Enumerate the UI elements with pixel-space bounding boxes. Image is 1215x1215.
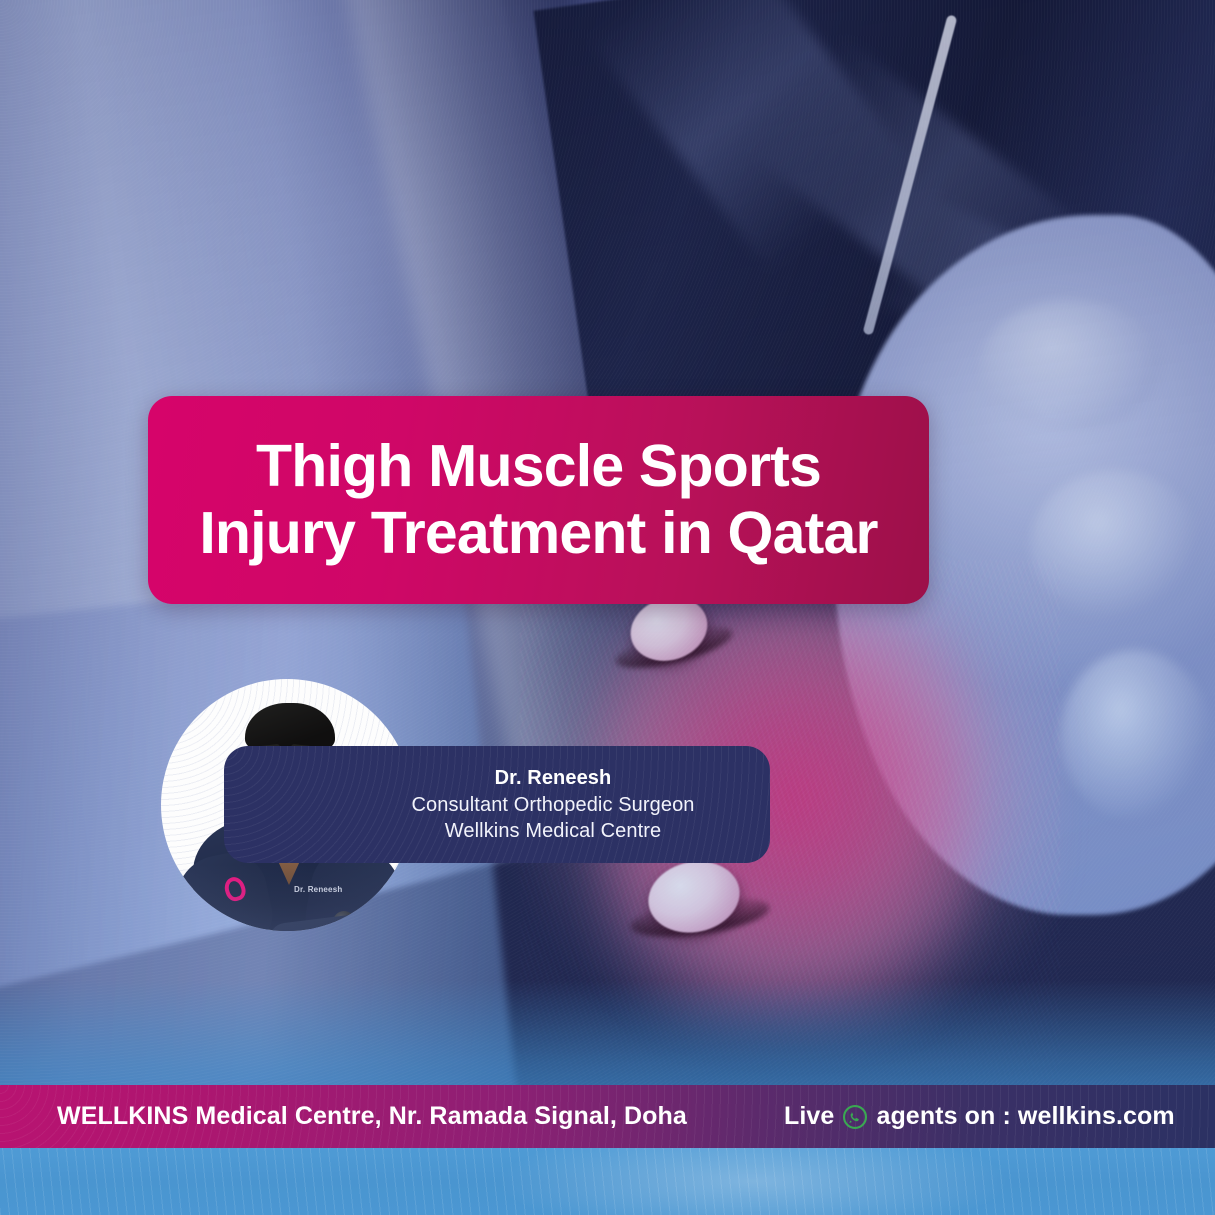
bottom-blue-strip	[0, 1148, 1215, 1215]
headline-line-1: Thigh Muscle Sports	[256, 433, 821, 499]
doctor-role: Consultant Orthopedic Surgeon	[336, 792, 770, 818]
footer-agents-label: agents on : wellkins.com	[876, 1102, 1174, 1131]
footer-address: WELLKINS Medical Centre, Nr. Ramada Sign…	[57, 1102, 687, 1131]
footer-brand-name: WELLKINS	[57, 1102, 188, 1130]
doctor-credential-text: Dr. Reneesh Consultant Orthopedic Surgeo…	[224, 765, 770, 845]
footer-live-label: Live	[784, 1102, 834, 1131]
doctor-name: Dr. Reneesh	[336, 765, 770, 792]
background-photo	[0, 0, 1215, 1215]
footer-live-agents[interactable]: Live agents on : wellkins.com	[784, 1102, 1175, 1131]
footer-contact-bar: WELLKINS Medical Centre, Nr. Ramada Sign…	[0, 1085, 1215, 1148]
poster-canvas: Thigh Muscle Sports Injury Treatment in …	[0, 0, 1215, 1215]
page-title: Thigh Muscle Sports Injury Treatment in …	[173, 433, 903, 568]
grain-overlay	[0, 0, 1215, 1215]
whatsapp-icon[interactable]	[842, 1104, 868, 1130]
doctor-credential-badge: Dr. Reneesh Consultant Orthopedic Surgeo…	[224, 746, 770, 863]
footer-address-text: Medical Centre, Nr. Ramada Signal, Doha	[188, 1102, 687, 1130]
headline-banner: Thigh Muscle Sports Injury Treatment in …	[148, 396, 929, 604]
scrub-name-tag: Dr. Reneesh	[294, 885, 342, 894]
headline-line-2: Injury Treatment in Qatar	[199, 500, 877, 567]
doctor-organization: Wellkins Medical Centre	[336, 818, 770, 844]
